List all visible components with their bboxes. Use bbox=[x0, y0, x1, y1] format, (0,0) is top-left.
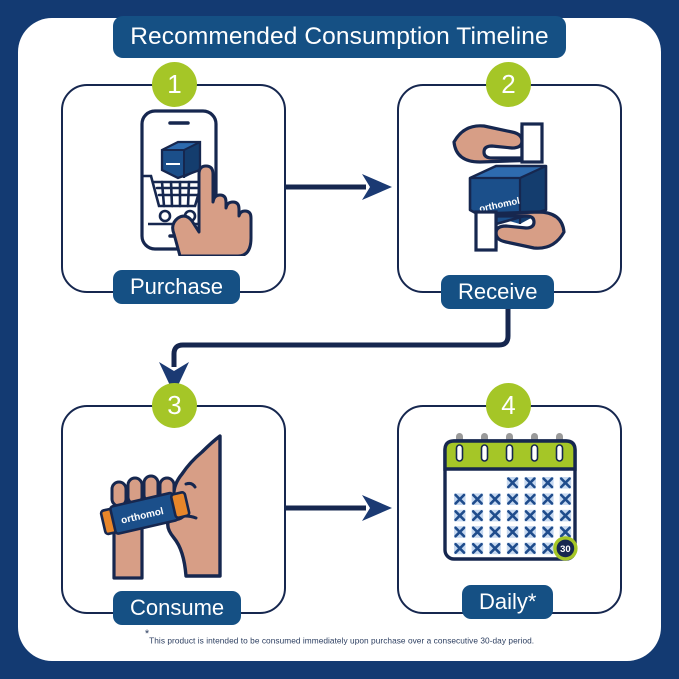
step-label-receive[interactable]: Receive bbox=[441, 275, 554, 309]
calendar-day-checked bbox=[454, 493, 466, 505]
calendar-day-30-badge: 30 bbox=[555, 538, 576, 559]
calendar-day-checked bbox=[524, 526, 536, 538]
infographic-root: orthomol bbox=[0, 0, 679, 679]
smartphone-shopping-cart-tap-icon bbox=[118, 106, 258, 256]
calendar-day-checked bbox=[454, 543, 466, 555]
step-badge-2: 2 bbox=[486, 62, 531, 107]
calendar-30-days-icon: 30 bbox=[441, 431, 581, 571]
calendar-day-checked bbox=[560, 493, 572, 505]
calendar-day-checked bbox=[542, 510, 554, 522]
calendar-day-checked bbox=[507, 493, 519, 505]
calendar-day-checked bbox=[560, 510, 572, 522]
calendar-day-checked bbox=[524, 510, 536, 522]
step-label-daily[interactable]: Daily* bbox=[462, 585, 553, 619]
calendar-day-checked bbox=[542, 477, 554, 489]
calendar-day-checked bbox=[560, 477, 572, 489]
calendar-day-checked bbox=[524, 543, 536, 555]
calendar-day-checked bbox=[489, 543, 501, 555]
step-label-text-2: Receive bbox=[458, 279, 537, 305]
step-label-text-1: Purchase bbox=[130, 274, 223, 300]
parcel-box bbox=[162, 142, 200, 178]
calendar-day-checked bbox=[507, 510, 519, 522]
hands-holding-package-icon: orthomol bbox=[440, 108, 580, 258]
calendar-day-checked bbox=[454, 510, 466, 522]
calendar-day-checked bbox=[454, 526, 466, 538]
page-title-text: Recommended Consumption Timeline bbox=[130, 23, 549, 51]
step-badge-4: 4 bbox=[486, 383, 531, 428]
footnote-text: This product is intended to be consumed … bbox=[149, 635, 534, 645]
calendar-day-checked bbox=[472, 510, 484, 522]
calendar-day-checked bbox=[542, 493, 554, 505]
step-label-purchase[interactable]: Purchase bbox=[113, 270, 240, 304]
step-number-3: 3 bbox=[167, 392, 181, 420]
step-number-4: 4 bbox=[501, 392, 515, 420]
calendar-day-checked bbox=[524, 493, 536, 505]
step-badge-3: 3 bbox=[152, 383, 197, 428]
hand-upper bbox=[454, 124, 542, 162]
calendar-day-checked bbox=[542, 526, 554, 538]
calendar-day-checked bbox=[472, 493, 484, 505]
calendar-day-checked bbox=[507, 526, 519, 538]
calendar-day-checked bbox=[542, 543, 554, 555]
calendar-day-checked bbox=[489, 493, 501, 505]
calendar-day-checked bbox=[489, 526, 501, 538]
page-title: Recommended Consumption Timeline bbox=[113, 16, 566, 58]
calendar-day-checked bbox=[560, 526, 572, 538]
calendar-day-checked bbox=[472, 526, 484, 538]
footnote: *This product is intended to be consumed… bbox=[0, 628, 679, 648]
calendar-day-checked bbox=[507, 477, 519, 489]
step-number-1: 1 bbox=[167, 71, 181, 99]
step-label-text-4: Daily* bbox=[479, 589, 536, 615]
step-number-2: 2 bbox=[501, 71, 515, 99]
calendar-day-checked bbox=[472, 543, 484, 555]
calendar-day-checked bbox=[524, 477, 536, 489]
step-badge-1: 1 bbox=[152, 62, 197, 107]
hand-drinking-vial-icon: orthomol bbox=[90, 430, 250, 580]
calendar-day-checked bbox=[507, 543, 519, 555]
calendar-day-checked bbox=[489, 510, 501, 522]
step-label-text-3: Consume bbox=[130, 595, 224, 621]
step-label-consume[interactable]: Consume bbox=[113, 591, 241, 625]
svg-text:30: 30 bbox=[560, 544, 571, 555]
